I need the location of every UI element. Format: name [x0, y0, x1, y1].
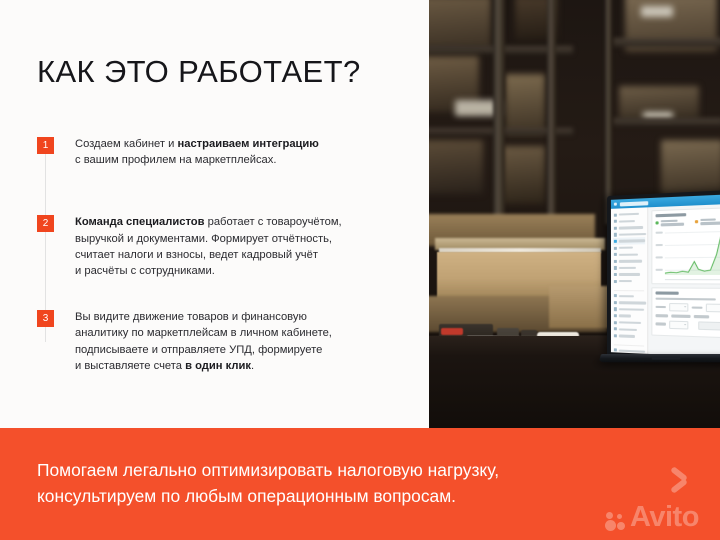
- item-label: [619, 226, 643, 229]
- shelf-beam: [613, 118, 720, 126]
- bottom-banner: Помогаем легально оптимизировать налогов…: [0, 428, 720, 540]
- item-icon: [614, 226, 617, 229]
- app-main-panel: [648, 204, 720, 358]
- banner-line-1: Помогаем легально оптимизировать налогов…: [37, 457, 607, 483]
- item-icon: [614, 220, 617, 223]
- item-icon: [614, 294, 617, 297]
- item-icon: [614, 280, 617, 283]
- item-label: [619, 315, 631, 318]
- laptop-lid: [607, 190, 720, 363]
- field-label: [656, 314, 669, 317]
- item-label: [619, 321, 641, 324]
- item-label: [619, 213, 639, 216]
- step-badge-3: 3: [37, 310, 54, 327]
- step-3-line1: Вы видите движение товаров и финансовую: [75, 311, 307, 323]
- field-select[interactable]: [669, 303, 688, 312]
- item-icon: [614, 260, 617, 263]
- chart-legend: [656, 218, 720, 227]
- step-3-line4-bold: в один клик: [185, 360, 251, 372]
- shelf-box: [429, 140, 483, 194]
- step-3-line4-plain: и выставляете счета: [75, 360, 185, 372]
- item-icon: [614, 301, 617, 304]
- item-label: [619, 267, 636, 270]
- page-title: КАК ЭТО РАБОТАЕТ?: [37, 54, 361, 90]
- form-card: [651, 287, 720, 338]
- item-label: [619, 233, 646, 236]
- banner-text: Помогаем легально оптимизировать налогов…: [37, 457, 607, 509]
- item-label: [619, 295, 634, 298]
- list-item: 2 Команда специалистов работает с товаро…: [37, 214, 397, 279]
- item-label: [619, 260, 642, 263]
- item-icon: [614, 321, 617, 324]
- form-row: [656, 303, 720, 313]
- item-icon: [614, 349, 617, 352]
- list-item: 3 Вы видите движение товаров и финансову…: [37, 309, 397, 374]
- item-icon: [614, 213, 617, 216]
- laptop-screen: [611, 194, 720, 358]
- shelf-box: [661, 140, 720, 196]
- list-item: 1 Создаем кабинет и настраиваем интеграц…: [37, 136, 397, 168]
- field-label: [692, 306, 703, 309]
- item-icon: [614, 307, 617, 310]
- field-label: [671, 315, 690, 318]
- shelf-post: [493, 0, 505, 224]
- line-chart: [656, 229, 720, 280]
- field-label: [694, 315, 709, 318]
- item-icon: [614, 327, 617, 330]
- legend-label: [661, 219, 684, 227]
- shelf-beam: [613, 38, 720, 47]
- item-icon: [614, 233, 617, 236]
- sidebar-item[interactable]: [613, 332, 645, 340]
- chart-card-title: [656, 213, 687, 217]
- chart-series: [665, 229, 720, 275]
- step-2-line3: считает налоги и взносы, ведет кадровый …: [75, 249, 318, 261]
- item-icon: [614, 253, 617, 256]
- item-icon: [614, 266, 617, 269]
- legend-entry: [656, 219, 685, 227]
- item-label: [619, 273, 640, 275]
- content-panel: КАК ЭТО РАБОТАЕТ? 1 Создаем кабинет и на…: [0, 0, 430, 428]
- field-select[interactable]: [706, 304, 720, 313]
- step-badge-2: 2: [37, 215, 54, 232]
- item-label: [619, 328, 637, 331]
- chart-card: [651, 207, 720, 284]
- form-row: [656, 314, 720, 318]
- shelf-box: [501, 146, 545, 204]
- tape-dispenser-red-clip: [441, 328, 463, 335]
- form-card-title: [656, 291, 679, 294]
- avito-wordmark: Avito: [630, 503, 699, 532]
- step-1-line1-bold: настраиваем интеграцию: [177, 138, 318, 150]
- step-2-line1-bold: Команда специалистов: [75, 216, 204, 228]
- item-label: [619, 301, 646, 304]
- avito-dots-icon: [604, 508, 628, 532]
- chevron-right-icon: [668, 464, 690, 496]
- app-title-placeholder: [620, 201, 648, 206]
- avito-watermark: Avito: [600, 462, 712, 536]
- step-text-3: Вы видите движение товаров и финансовую …: [75, 309, 397, 374]
- step-3-line4-end: .: [251, 360, 254, 372]
- item-label: [619, 247, 633, 250]
- item-icon: [614, 240, 617, 243]
- step-badge-1: 1: [37, 137, 54, 154]
- shelf-box: [429, 0, 491, 48]
- form-row: [656, 320, 720, 330]
- warehouse-photo: [429, 0, 720, 428]
- sidebar-divider: [614, 340, 644, 346]
- item-icon: [614, 246, 617, 249]
- item-icon: [614, 314, 617, 317]
- item-label: [619, 349, 645, 353]
- step-2-line4: и расчёты с сотрудниками.: [75, 265, 215, 277]
- item-label: [619, 240, 645, 243]
- item-icon: [614, 334, 617, 337]
- step-3-line2: аналитику по маркетплейсам в личном каби…: [75, 327, 332, 339]
- step-2-line1-plain: работает с товароучётом,: [204, 216, 341, 228]
- sidebar-divider: [614, 286, 644, 291]
- legend-swatch: [695, 220, 698, 223]
- legend-entry: [695, 218, 720, 226]
- form-description: [656, 297, 717, 300]
- avito-logo: Avito: [604, 503, 699, 532]
- shelf-post: [605, 0, 612, 224]
- item-label: [619, 308, 644, 311]
- step-text-2: Команда специалистов работает с товароуч…: [75, 214, 397, 279]
- app-sidebar[interactable]: [611, 207, 648, 354]
- shelf-box-label: [641, 6, 673, 17]
- step-text-1: Создаем кабинет и настраиваем интеграцию…: [75, 136, 397, 168]
- item-label: [619, 253, 638, 256]
- sidebar-item[interactable]: [613, 278, 645, 285]
- field-select[interactable]: [669, 320, 688, 329]
- form-rows: [656, 303, 720, 330]
- form-submit-button[interactable]: [698, 321, 720, 330]
- item-icon: [614, 273, 617, 276]
- laptop-base: [599, 354, 720, 362]
- step-1-line1-plain: Создаем кабинет и: [75, 138, 177, 150]
- laptop: [601, 196, 720, 371]
- app-menu-icon[interactable]: [614, 203, 617, 206]
- field-label: [656, 323, 666, 326]
- item-label: [619, 280, 632, 282]
- shelf-box: [505, 74, 545, 136]
- legend-label: [700, 218, 720, 226]
- field-label: [656, 306, 667, 309]
- banner-line-2: консультируем по любым операционным вопр…: [37, 483, 607, 509]
- laptop-touchpad: [652, 356, 681, 359]
- step-1-line2: с вашим профилем на маркетплейсах.: [75, 154, 276, 166]
- slide-root: КАК ЭТО РАБОТАЕТ? 1 Создаем кабинет и на…: [0, 0, 720, 540]
- item-label: [619, 220, 635, 223]
- step-3-line3: подписываете и отправляете УПД, формируе…: [75, 344, 322, 356]
- shelf-post: [547, 0, 556, 224]
- item-label: [619, 335, 635, 338]
- steps-list: 1 Создаем кабинет и настраиваем интеграц…: [37, 136, 397, 374]
- legend-swatch: [656, 221, 659, 224]
- step-2-line2: выручкой и документами. Формирует отчётн…: [75, 233, 332, 245]
